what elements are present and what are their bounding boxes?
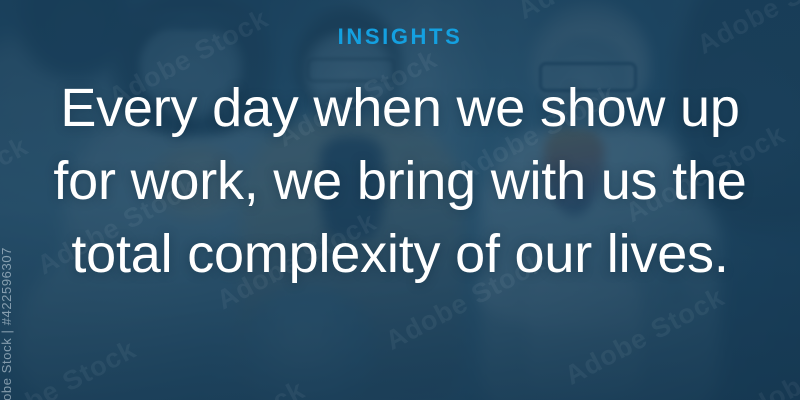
card-content: INSIGHTS Every day when we show up for w… <box>0 0 800 400</box>
eyebrow-label: INSIGHTS <box>338 26 463 48</box>
quote-line: Every day when we show up <box>0 72 800 145</box>
quote-text: Every day when we show up for work, we b… <box>0 72 800 291</box>
quote-line: for work, we bring with us the <box>0 145 800 218</box>
insights-quote-card: Adobe Stock Adobe Stock Adobe Stock Adob… <box>0 0 800 400</box>
quote-line: total complexity of our lives. <box>0 218 800 291</box>
